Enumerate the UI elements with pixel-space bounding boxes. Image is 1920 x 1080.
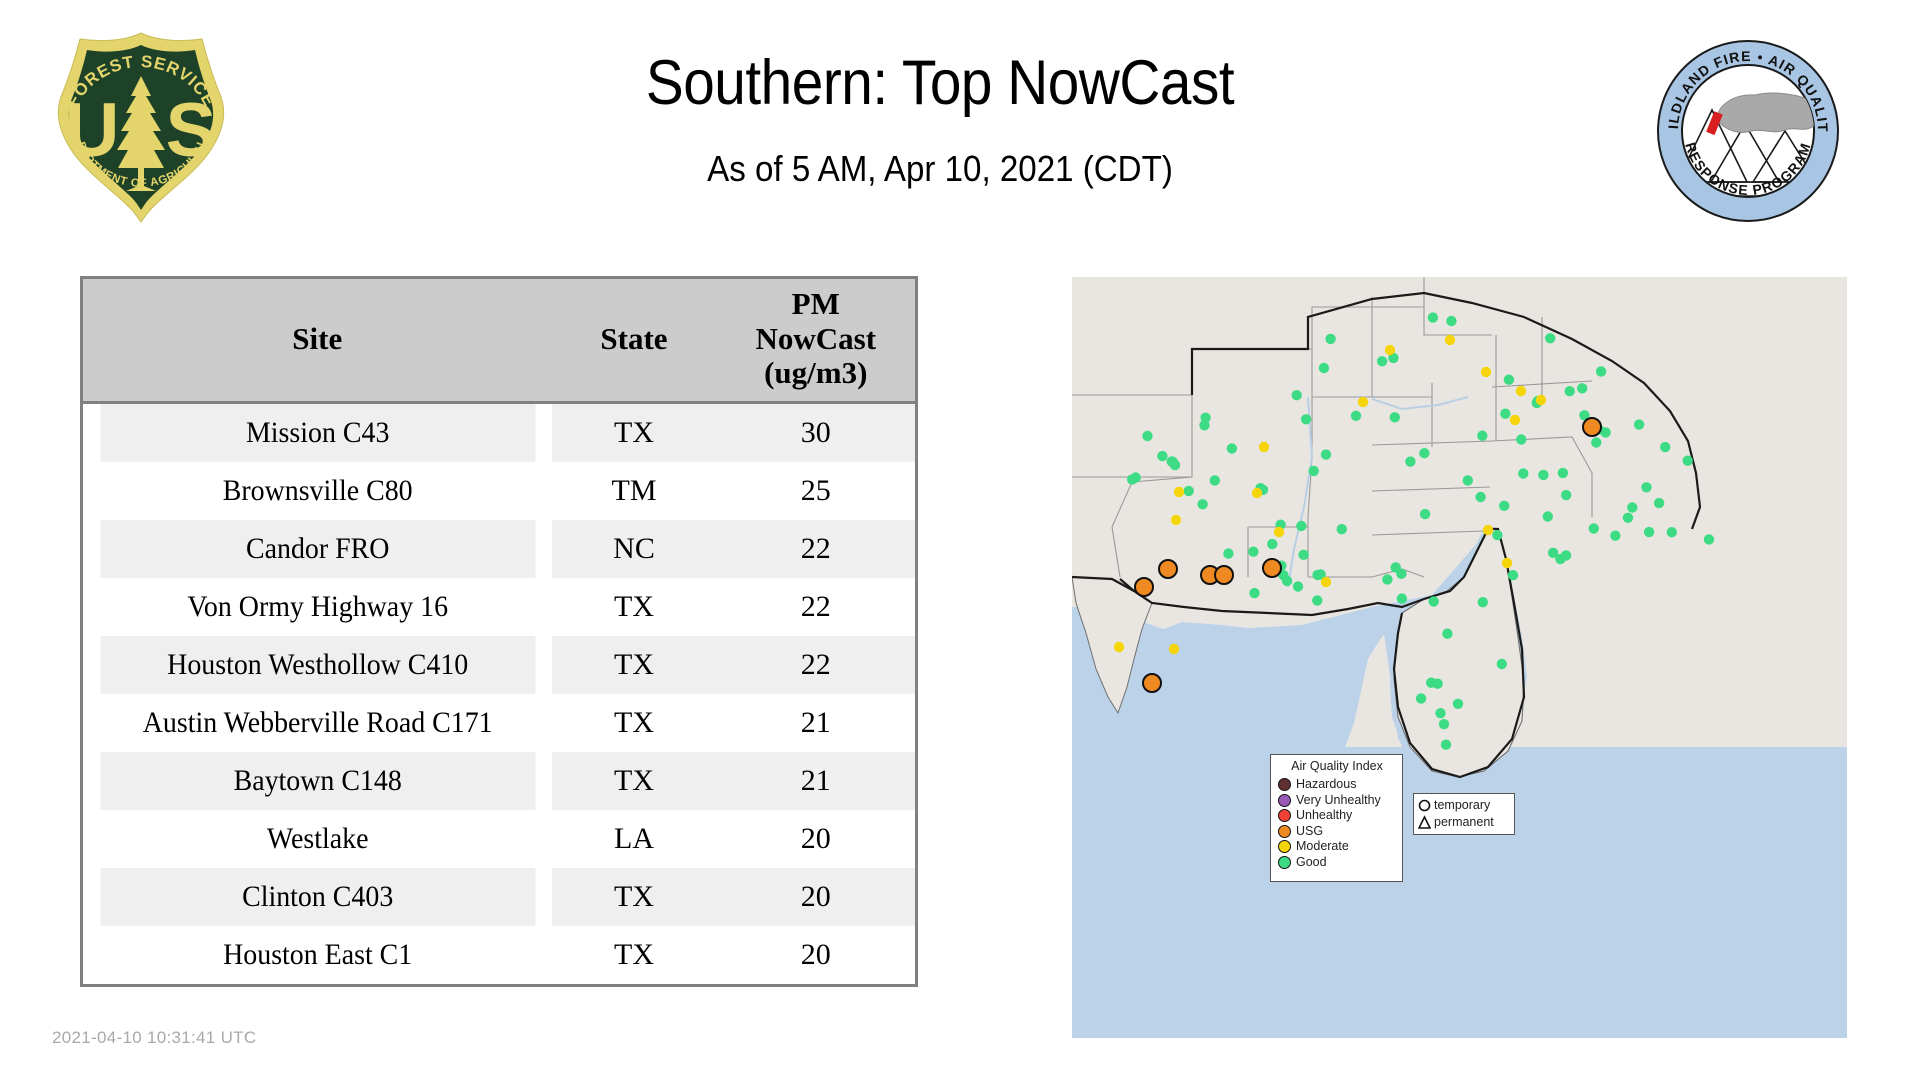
monitor-dot[interactable] (1481, 367, 1491, 377)
monitor-dot[interactable] (1428, 312, 1438, 322)
table-row: Brownsville C80TM25 (82, 462, 917, 520)
monitor-dot[interactable] (1396, 569, 1406, 579)
table-row: Austin Webberville Road C171TX21 (82, 694, 917, 752)
column-header-pm-line3: (ug/m3) (721, 356, 912, 391)
monitor-dot[interactable] (1159, 560, 1177, 578)
monitor-dot[interactable] (1596, 366, 1606, 376)
monitor-dot[interactable] (1433, 679, 1443, 689)
monitor-dot[interactable] (1249, 588, 1259, 598)
monitor-dot[interactable] (1583, 418, 1601, 436)
monitor-dot[interactable] (1210, 475, 1220, 485)
table-row: Candor FRONC22 (82, 520, 917, 578)
nowcast-table: Site State PM NowCast (ug/m3) Mission C4… (80, 276, 918, 987)
cell-state: NC (552, 520, 717, 578)
monitor-dot[interactable] (1545, 333, 1555, 343)
cell-pm-nowcast: 22 (717, 578, 917, 636)
aqi-legend-item: Very Unhealthy (1278, 792, 1396, 808)
monitor-dot[interactable] (1385, 345, 1395, 355)
symbol-legend: temporary permanent (1413, 793, 1515, 835)
monitor-dot[interactable] (1561, 550, 1571, 560)
monitor-dot[interactable] (1502, 558, 1512, 568)
monitor-dot[interactable] (1634, 419, 1644, 429)
nowcast-table-container: Site State PM NowCast (ug/m3) Mission C4… (80, 276, 918, 987)
monitor-dot[interactable] (1610, 531, 1620, 541)
cell-site: Houston Westhollow C410 (98, 636, 535, 694)
symbol-legend-label-permanent: permanent (1434, 816, 1494, 829)
table-row: WestlakeLA20 (82, 810, 917, 868)
monitor-dot[interactable] (1259, 442, 1269, 452)
monitor-dot[interactable] (1215, 566, 1233, 584)
monitor-dot[interactable] (1223, 548, 1233, 558)
monitor-dot[interactable] (1453, 699, 1463, 709)
monitor-dot[interactable] (1577, 383, 1587, 393)
monitor-dot[interactable] (1492, 530, 1502, 540)
monitor-dot[interactable] (1518, 468, 1528, 478)
monitor-dot[interactable] (1538, 470, 1548, 480)
monitor-dot[interactable] (1169, 644, 1179, 654)
monitor-dot[interactable] (1292, 390, 1302, 400)
aqi-swatch-icon (1278, 778, 1291, 791)
usfs-shield-logo: FOREST SERVICE DEPARTMENT OF AGRICULTURE… (52, 28, 230, 224)
monitor-dot[interactable] (1321, 577, 1331, 587)
monitor-dot[interactable] (1200, 413, 1210, 423)
cell-site: Von Ormy Highway 16 (98, 578, 535, 636)
cell-state: TX (552, 868, 717, 926)
table-header: Site State PM NowCast (ug/m3) (82, 278, 917, 403)
monitor-dot[interactable] (1197, 499, 1207, 509)
monitor-dot[interactable] (1516, 386, 1526, 396)
page-title: Southern: Top NowCast (310, 50, 1570, 116)
monitor-dot[interactable] (1683, 456, 1693, 466)
table-header-row: Site State PM NowCast (ug/m3) (82, 278, 917, 403)
cell-pm-nowcast: 20 (717, 810, 917, 868)
monitor-dot[interactable] (1446, 316, 1456, 326)
cell-pm-nowcast: 25 (717, 462, 917, 520)
monitor-dot[interactable] (1114, 642, 1124, 652)
cell-site: Candor FRO (98, 520, 535, 578)
aqi-swatch-icon (1278, 840, 1291, 853)
monitor-dot[interactable] (1704, 534, 1714, 544)
cell-pm-nowcast: 21 (717, 694, 917, 752)
aqi-legend-label: USG (1296, 825, 1323, 838)
monitor-dot[interactable] (1543, 511, 1553, 521)
monitor-dot[interactable] (1298, 550, 1308, 560)
cell-site: Mission C43 (98, 403, 535, 463)
header-band: FOREST SERVICE DEPARTMENT OF AGRICULTURE… (0, 0, 1920, 225)
aqi-legend-title: Air Quality Index (1278, 760, 1396, 774)
monitor-dot[interactable] (1143, 674, 1161, 692)
monitor-dot[interactable] (1463, 475, 1473, 485)
monitor-dot[interactable] (1296, 521, 1306, 531)
aqi-legend-rows: HazardousVery UnhealthyUnhealthyUSGModer… (1278, 777, 1396, 870)
monitor-dot[interactable] (1227, 443, 1237, 453)
monitor-dot[interactable] (1667, 527, 1677, 537)
monitor-dot[interactable] (1510, 415, 1520, 425)
svg-text:U: U (65, 88, 120, 173)
column-header-pm-line1: PM (721, 287, 912, 322)
monitor-dot[interactable] (1171, 515, 1181, 525)
monitor-dot[interactable] (1623, 513, 1633, 523)
column-header-pm-nowcast: PM NowCast (ug/m3) (717, 278, 917, 403)
monitor-dot[interactable] (1439, 719, 1449, 729)
monitor-dot[interactable] (1477, 431, 1487, 441)
symbol-legend-label-temporary: temporary (1434, 799, 1490, 812)
cell-site: Baytown C148 (98, 752, 535, 810)
monitor-dot[interactable] (1358, 397, 1368, 407)
table-row: Baytown C148TX21 (82, 752, 917, 810)
aqi-legend-label: Good (1296, 856, 1327, 869)
cell-state: TX (552, 578, 717, 636)
monitor-dot[interactable] (1441, 740, 1451, 750)
monitor-dot[interactable] (1135, 578, 1153, 596)
monitor-dot[interactable] (1405, 456, 1415, 466)
monitor-dot[interactable] (1536, 395, 1546, 405)
aqi-legend-label: Moderate (1296, 840, 1349, 853)
table-row: Von Ormy Highway 16TX22 (82, 578, 917, 636)
monitor-dot[interactable] (1416, 693, 1426, 703)
cell-site: Houston East C1 (98, 926, 535, 986)
monitor-dot[interactable] (1293, 581, 1303, 591)
monitor-dot[interactable] (1500, 409, 1510, 419)
cell-pm-nowcast: 20 (717, 926, 917, 986)
aqi-legend-item: USG (1278, 823, 1396, 839)
monitor-dot[interactable] (1267, 539, 1277, 549)
cell-pm-nowcast: 22 (717, 636, 917, 694)
monitor-dot[interactable] (1429, 596, 1439, 606)
monitor-dot[interactable] (1377, 356, 1387, 366)
cell-site: Westlake (98, 810, 535, 868)
svg-text:S: S (166, 88, 217, 173)
cell-state: TX (552, 403, 717, 463)
aqi-legend-item: Good (1278, 854, 1396, 870)
cell-state: TX (552, 636, 717, 694)
monitor-dot[interactable] (1337, 524, 1347, 534)
monitor-dot[interactable] (1419, 448, 1429, 458)
monitor-dot[interactable] (1312, 595, 1322, 605)
monitor-dot[interactable] (1435, 708, 1445, 718)
wfaqrp-logo: WILDLAND FIRE • AIR QUALITY RESPONSE PRO… (1655, 38, 1841, 224)
monitor-dot[interactable] (1561, 490, 1571, 500)
footer-timestamp: 2021-04-10 10:31:41 UTC (52, 1028, 256, 1048)
symbol-legend-row-temporary: temporary (1418, 797, 1510, 814)
aqi-swatch-icon (1278, 809, 1291, 822)
aqi-swatch-icon (1278, 794, 1291, 807)
cell-site: Austin Webberville Road C171 (98, 694, 535, 752)
monitor-dot[interactable] (1504, 375, 1514, 385)
monitor-dot[interactable] (1442, 629, 1452, 639)
monitor-dot[interactable] (1170, 460, 1180, 470)
monitor-dot[interactable] (1390, 412, 1400, 422)
monitor-dot[interactable] (1420, 509, 1430, 519)
aqi-legend-label: Unhealthy (1296, 809, 1352, 822)
monitor-dot[interactable] (1627, 502, 1637, 512)
column-header-pm-line2: NowCast (721, 322, 912, 357)
monitor-dot[interactable] (1263, 559, 1281, 577)
monitor-dot[interactable] (1319, 363, 1329, 373)
aqi-legend-item: Moderate (1278, 839, 1396, 855)
monitor-dot[interactable] (1351, 411, 1361, 421)
monitor-dot[interactable] (1641, 482, 1651, 492)
monitor-dot[interactable] (1127, 474, 1137, 484)
temporary-circle-icon (1418, 798, 1431, 813)
map-panel[interactable]: Air Quality Index HazardousVery Unhealth… (1072, 277, 1847, 1038)
monitor-dot[interactable] (1589, 523, 1599, 533)
monitor-dot[interactable] (1516, 434, 1526, 444)
monitor-dot[interactable] (1397, 593, 1407, 603)
table-row: Mission C43TX30 (82, 403, 917, 463)
monitor-dot[interactable] (1558, 468, 1568, 478)
column-header-state: State (552, 278, 717, 403)
table-body: Mission C43TX30Brownsville C80TM25Candor… (82, 403, 917, 986)
monitor-dot[interactable] (1483, 525, 1493, 535)
aqi-legend-item: Hazardous (1278, 777, 1396, 793)
cell-pm-nowcast: 22 (717, 520, 917, 578)
table-row: Houston Westhollow C410TX22 (82, 636, 917, 694)
aqi-swatch-icon (1278, 856, 1291, 869)
monitor-dot[interactable] (1591, 437, 1601, 447)
monitor-dot[interactable] (1499, 501, 1509, 511)
monitor-dot[interactable] (1309, 466, 1319, 476)
cell-site: Brownsville C80 (98, 462, 535, 520)
monitor-dot[interactable] (1252, 488, 1262, 498)
cell-site: Clinton C403 (98, 868, 535, 926)
monitor-dot[interactable] (1382, 574, 1392, 584)
cell-state: LA (552, 810, 717, 868)
page-subtitle: As of 5 AM, Apr 10, 2021 (CDT) (296, 148, 1584, 190)
aqi-legend: Air Quality Index HazardousVery Unhealth… (1270, 754, 1403, 882)
monitor-dot[interactable] (1321, 449, 1331, 459)
monitor-dot[interactable] (1508, 570, 1518, 580)
monitor-dot[interactable] (1184, 486, 1194, 496)
cell-state: TX (552, 926, 717, 986)
cell-state: TX (552, 752, 717, 810)
aqi-legend-item: Unhealthy (1278, 808, 1396, 824)
symbol-legend-row-permanent: permanent (1418, 814, 1510, 831)
monitor-dot[interactable] (1445, 335, 1455, 345)
cell-pm-nowcast: 21 (717, 752, 917, 810)
permanent-triangle-icon (1418, 815, 1431, 830)
monitor-dot[interactable] (1142, 431, 1152, 441)
usfs-shield-icon: FOREST SERVICE DEPARTMENT OF AGRICULTURE… (52, 28, 230, 224)
monitor-dot[interactable] (1325, 334, 1335, 344)
table-row: Clinton C403TX20 (82, 868, 917, 926)
cell-pm-nowcast: 20 (717, 868, 917, 926)
column-header-site: Site (82, 278, 552, 403)
cell-state: TX (552, 694, 717, 752)
cell-state: TM (552, 462, 717, 520)
table-row: Houston East C1TX20 (82, 926, 917, 986)
monitor-dot[interactable] (1654, 498, 1664, 508)
monitor-dot[interactable] (1660, 442, 1670, 452)
monitor-dot[interactable] (1301, 414, 1311, 424)
cell-pm-nowcast: 30 (717, 403, 917, 463)
monitor-dot[interactable] (1644, 527, 1654, 537)
monitor-dot-layer[interactable] (1072, 277, 1847, 1038)
monitor-dot[interactable] (1478, 597, 1488, 607)
aqi-swatch-icon (1278, 825, 1291, 838)
monitor-dot[interactable] (1274, 527, 1284, 537)
wfaqrp-circle-icon: WILDLAND FIRE • AIR QUALITY RESPONSE PRO… (1655, 38, 1841, 224)
monitor-dot[interactable] (1157, 451, 1167, 461)
monitor-dot[interactable] (1497, 659, 1507, 669)
monitor-dot[interactable] (1174, 487, 1184, 497)
monitor-dot[interactable] (1248, 547, 1258, 557)
monitor-dot[interactable] (1565, 386, 1575, 396)
aqi-legend-label: Very Unhealthy (1296, 794, 1381, 807)
aqi-legend-label: Hazardous (1296, 778, 1356, 791)
monitor-dot[interactable] (1475, 492, 1485, 502)
